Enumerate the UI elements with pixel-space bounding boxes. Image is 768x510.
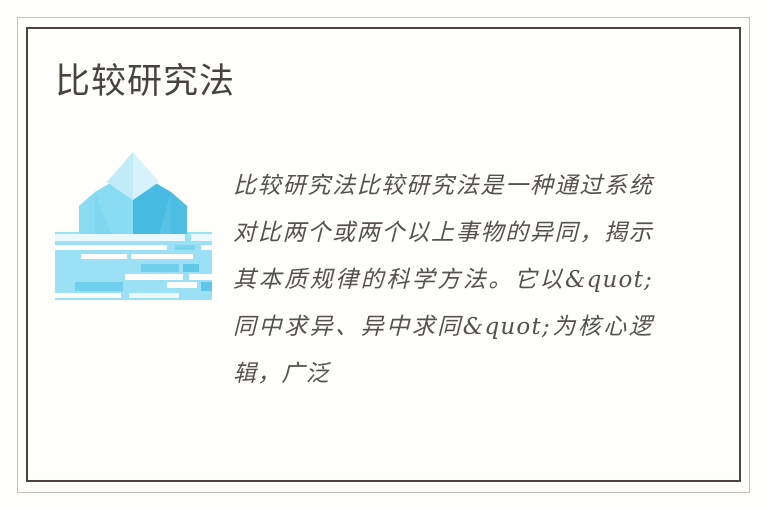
article-card: 比较研究法 xyxy=(0,0,768,510)
card-content: 比较研究法 xyxy=(0,0,768,510)
iceberg-illustration xyxy=(55,148,212,300)
article-body-text: 比较研究法比较研究法是一种通过系统对比两个或两个以上事物的异同，揭示其本质规律的… xyxy=(233,163,653,398)
page-title: 比较研究法 xyxy=(55,60,235,104)
iceberg-icon xyxy=(55,148,212,300)
